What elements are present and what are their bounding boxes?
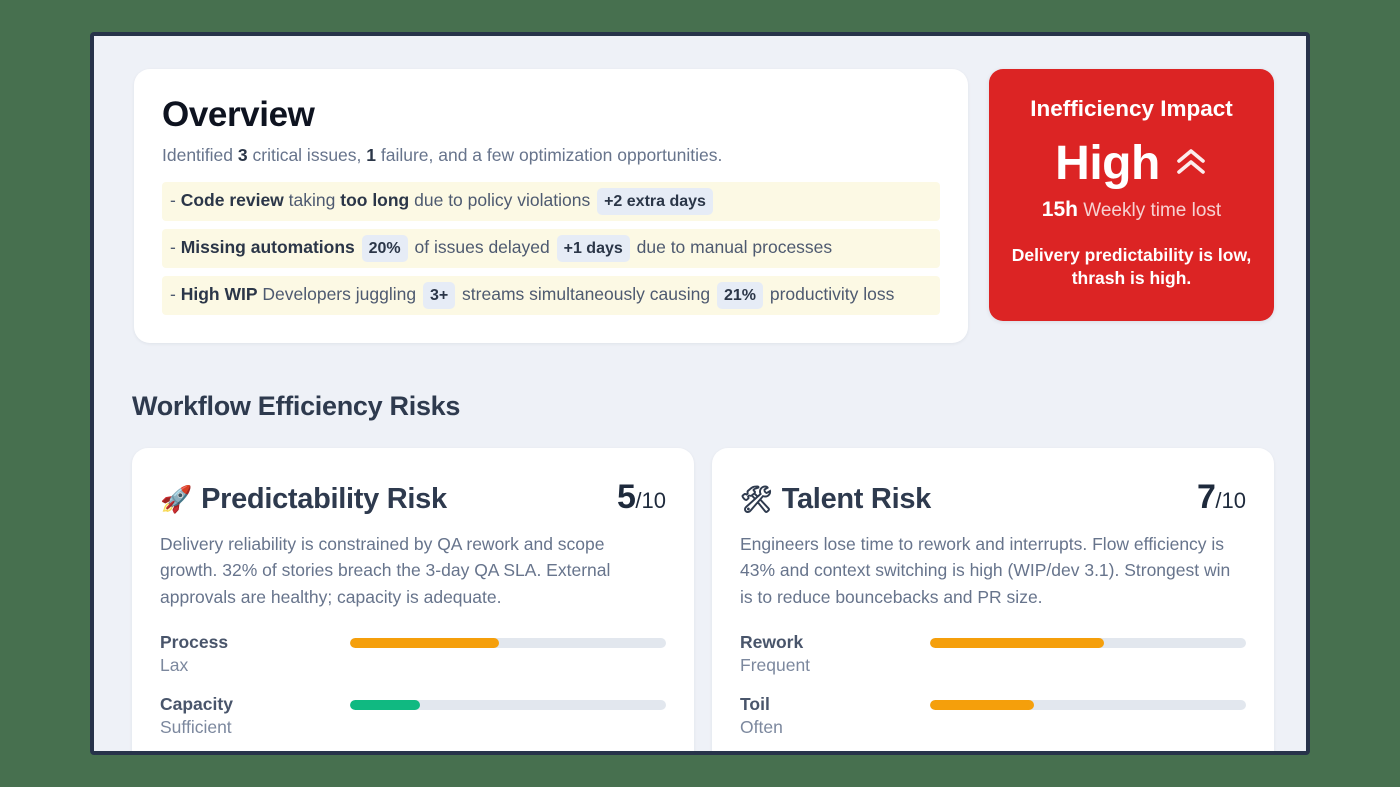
issue-item: - Missing automations 20% of issues dela…	[162, 229, 940, 268]
risk-metric-list: Rework Frequent Toil Often	[740, 632, 1246, 739]
impact-time-label: Weekly time lost	[1083, 200, 1221, 221]
metric-bar-fill	[930, 700, 1034, 710]
risk-score-value: 5	[617, 478, 635, 516]
page-viewport: Overview Identified 3 critical issues, 1…	[94, 36, 1306, 751]
impact-title: Inefficiency Impact	[1009, 95, 1254, 122]
risk-score-max: /10	[635, 488, 666, 513]
issue-text-b: of issues delayed	[410, 237, 555, 257]
risk-card-predictability: 🚀 Predictability Risk 5/10 Delivery reli…	[132, 448, 694, 751]
metric-name: Capacity	[160, 694, 350, 716]
metric-labels: Toil Often	[740, 694, 930, 739]
risk-score-value: 7	[1197, 478, 1215, 516]
issue-dash: -	[170, 190, 181, 210]
metric-labels: Process Lax	[160, 632, 350, 677]
issue-item: - High WIP Developers juggling 3+ stream…	[162, 276, 940, 315]
metric-row: Rework Frequent	[740, 632, 1246, 677]
metric-value: Lax	[160, 654, 350, 677]
risk-card-header: 🛠 Talent Risk 7/10	[740, 478, 1246, 517]
metric-name: Toil	[740, 694, 930, 716]
metric-value: Sufficient	[160, 716, 350, 739]
issue-list: - Code review taking too long due to pol…	[162, 182, 940, 316]
metric-bar-track	[930, 700, 1246, 710]
impact-time-value: 15h	[1042, 198, 1078, 221]
metric-labels: Capacity Sufficient	[160, 694, 350, 739]
metric-row: Capacity Sufficient	[160, 694, 666, 739]
risk-metric-list: Process Lax Capacity Sufficient	[160, 632, 666, 751]
metric-bar-track	[350, 638, 666, 648]
summary-failure-count: 1	[366, 145, 376, 165]
impact-value-row: High	[1009, 140, 1254, 188]
risk-title: Talent Risk	[782, 483, 931, 516]
risk-card-talent: 🛠 Talent Risk 7/10 Engineers lose time t…	[712, 448, 1274, 751]
risk-score-max: /10	[1215, 488, 1246, 513]
issue-text-b: due to policy violations	[409, 190, 595, 210]
metric-row: Toil Often	[740, 694, 1246, 739]
metric-bar-track	[930, 638, 1246, 648]
risk-card-row: 🚀 Predictability Risk 5/10 Delivery reli…	[132, 448, 1276, 751]
issue-badge: +1 days	[557, 235, 630, 262]
issue-dash: -	[170, 237, 181, 257]
risk-title: Predictability Risk	[201, 483, 447, 516]
overview-summary: Identified 3 critical issues, 1 failure,…	[162, 143, 940, 168]
risk-score: 7/10	[1197, 478, 1246, 517]
risk-title-group: 🚀 Predictability Risk	[160, 483, 447, 516]
issue-badge: 21%	[717, 282, 763, 309]
double-chevron-up-icon	[1174, 147, 1208, 182]
metric-bar-fill	[930, 638, 1104, 648]
summary-suffix: failure, and a few optimization opportun…	[376, 145, 722, 165]
issue-item: - Code review taking too long due to pol…	[162, 182, 940, 221]
risk-card-header: 🚀 Predictability Risk 5/10	[160, 478, 666, 517]
issue-text-a: Developers juggling	[258, 284, 421, 304]
issue-text-a	[355, 237, 360, 257]
inefficiency-impact-card: Inefficiency Impact High 15h Weekly time…	[989, 69, 1274, 321]
risk-score: 5/10	[617, 478, 666, 517]
issue-lead: Missing automations	[181, 237, 355, 257]
issue-text-a: taking	[284, 190, 340, 210]
hammer-and-wrench-icon: 🛠	[740, 486, 773, 512]
metric-bar-fill	[350, 700, 420, 710]
section-heading: Workflow Efficiency Risks	[132, 391, 460, 422]
metric-row: Process Lax	[160, 632, 666, 677]
risk-description: Engineers lose time to rework and interr…	[740, 531, 1246, 610]
metric-bar-track	[350, 700, 666, 710]
issue-text-c: due to manual processes	[632, 237, 832, 257]
issue-emphasis: too long	[340, 190, 409, 210]
risk-title-group: 🛠 Talent Risk	[740, 483, 931, 516]
issue-text-c: productivity loss	[765, 284, 894, 304]
issue-badge: +2 extra days	[597, 188, 713, 215]
metric-labels: Rework Frequent	[740, 632, 930, 677]
risk-description: Delivery reliability is constrained by Q…	[160, 531, 666, 610]
metric-name: Process	[160, 632, 350, 654]
top-row: Overview Identified 3 critical issues, 1…	[134, 69, 1274, 343]
page-title: Overview	[162, 95, 940, 135]
rocket-icon: 🚀	[160, 486, 192, 512]
metric-bar-fill	[350, 638, 499, 648]
metric-value: Frequent	[740, 654, 930, 677]
impact-level: High	[1055, 140, 1160, 188]
impact-note: Delivery predictability is low, thrash i…	[1009, 244, 1254, 291]
impact-time-lost: 15h Weekly time lost	[1009, 196, 1254, 224]
metric-value: Often	[740, 716, 930, 739]
issue-lead: High WIP	[181, 284, 258, 304]
issue-badge: 20%	[362, 235, 408, 262]
issue-badge: 3+	[423, 282, 455, 309]
summary-middle: critical issues,	[248, 145, 367, 165]
overview-card: Overview Identified 3 critical issues, 1…	[134, 69, 968, 343]
app-frame: Overview Identified 3 critical issues, 1…	[90, 32, 1310, 755]
summary-issue-count: 3	[238, 145, 248, 165]
issue-dash: -	[170, 284, 181, 304]
metric-name: Rework	[740, 632, 930, 654]
summary-prefix: Identified	[162, 145, 238, 165]
issue-text-b: streams simultaneously causing	[457, 284, 715, 304]
issue-lead: Code review	[181, 190, 284, 210]
